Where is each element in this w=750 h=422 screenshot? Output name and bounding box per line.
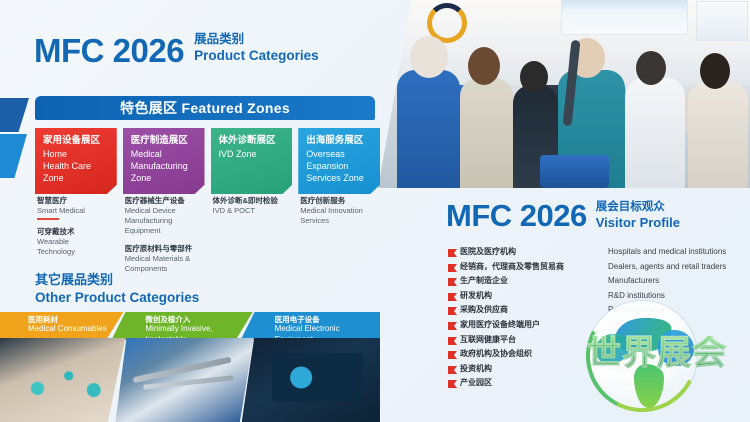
- zone-subcategory-column: 智慧医疗 Smart Medical 可穿戴技术 Wearable Techno…: [37, 196, 119, 281]
- poster-canvas: MFC 2026 展品类别 Product Categories 特色展区 Fe…: [0, 0, 750, 422]
- photo-medical-electronic-equipment: [242, 338, 380, 422]
- red-arrow-bullet-icon: [448, 290, 460, 301]
- visitor-list-item: 经销商，代理商及零售贸易商 Dealers, agents and retail…: [448, 261, 748, 276]
- visitor-item-cn: 产业园区: [460, 377, 608, 389]
- visitor-list-item: 医院及医疗机构 Hospitals and medical institutio…: [448, 246, 748, 261]
- visitor-mfc-logotype: MFC 2026: [446, 200, 587, 231]
- visitor-list-item: 投资机构 Investment: [448, 363, 748, 378]
- visitor-head: [700, 53, 730, 89]
- subcategory-cn: 医疗器械生产设备: [125, 196, 207, 206]
- zone-card-title-cn: 家用设备展区: [43, 135, 110, 147]
- subcategory-en: IVD & POCT: [213, 206, 295, 216]
- visitor-profile-header: MFC 2026 展会目标观众 Visitor Profile: [446, 200, 680, 231]
- subcategory-en: Smart Medical: [37, 206, 119, 216]
- red-arrow-bullet-icon: [448, 319, 460, 330]
- zone-subcategory-column: 医疗器械生产设备 Medical Device Manufacturing Eq…: [125, 196, 207, 281]
- visitor-profile-list: 医院及医疗机构 Hospitals and medical institutio…: [448, 246, 748, 392]
- category-bar-minimally-invasive[interactable]: 微创及植介入 Minimally Invasive, Implantable &…: [111, 312, 252, 340]
- photo-minimally-invasive-devices: [115, 338, 253, 422]
- visitor-figure: [460, 78, 512, 188]
- visitor-item-en: Manufacturers: [608, 275, 748, 287]
- header-title-en: Product Categories: [194, 48, 319, 65]
- zone-card-title-cn: 体外诊断展区: [219, 135, 286, 147]
- zone-subcategory-columns: 智慧医疗 Smart Medical 可穿戴技术 Wearable Techno…: [37, 196, 382, 281]
- red-arrow-bullet-icon: [448, 304, 460, 315]
- bottom-photo-strip: [0, 338, 380, 422]
- visitor-title-en: Visitor Profile: [596, 215, 680, 231]
- visitor-item-en: Investment: [608, 363, 748, 375]
- visitor-title-cn: 展会目标观众: [596, 200, 680, 214]
- tradeshow-booth-photo: [378, 0, 750, 188]
- visitor-list-item: 采购及供应商 Purchasers and: [448, 304, 748, 319]
- header-subtitle-group: 展品类别 Product Categories: [194, 32, 319, 67]
- subcategory-cn: 医疗创新服务: [300, 196, 382, 206]
- visitor-item-en: Government: [608, 348, 748, 360]
- other-categories-title-cn: 其它展品类别: [35, 272, 199, 289]
- visitor-item-en: Purchasers and: [608, 304, 748, 316]
- subcategory-cn: 医疗原材料与零部件: [125, 244, 207, 254]
- visitor-list-item: 政府机构及协会组织 Government: [448, 348, 748, 363]
- visitor-subtitle-group: 展会目标观众 Visitor Profile: [596, 200, 680, 231]
- visitor-list-item: 家用医疗设备终端用户 End users for: [448, 319, 748, 334]
- subcategory-cn: 可穿戴技术: [37, 227, 119, 237]
- product-categories-header: MFC 2026 展品类别 Product Categories: [34, 32, 319, 67]
- visitor-head: [468, 47, 500, 85]
- category-bar-cn: 医用电子设备: [275, 315, 380, 324]
- visitor-item-en: Dealers, agents and retail traders: [608, 261, 748, 273]
- subcategory-en: Medical Innovation Services: [300, 206, 382, 226]
- red-arrow-bullet-icon: [448, 348, 460, 359]
- zone-card-home-health-care[interactable]: 家用设备展区 Home Health Care Zone: [35, 128, 117, 194]
- zone-card-title-en: IVD Zone: [219, 149, 286, 161]
- subcategory-item: 医疗器械生产设备 Medical Device Manufacturing Eq…: [125, 196, 207, 237]
- visitor-item-en: Industrial pa: [608, 377, 748, 389]
- red-arrow-bullet-icon: [448, 246, 460, 257]
- red-arrow-bullet-icon: [448, 377, 460, 388]
- subcategory-item: 体外诊断&即时检验 IVD & POCT: [213, 196, 295, 216]
- category-bar-cn: 医用耗材: [28, 315, 123, 324]
- zone-subcategory-column: 医疗创新服务 Medical Innovation Services: [300, 196, 382, 281]
- robot-arm-exhibit: [531, 40, 617, 188]
- visitor-item-cn: 家用医疗设备终端用户: [460, 319, 608, 331]
- red-arrow-bullet-icon: [448, 261, 460, 272]
- visitor-item-cn: 经销商，代理商及零售贸易商: [460, 261, 608, 273]
- red-arrow-bullet-icon: [448, 334, 460, 345]
- featured-zones-banner: 特色展区 Featured Zones: [35, 96, 375, 120]
- photo-medical-consumables: [0, 338, 125, 422]
- header-title-cn: 展品类别: [194, 32, 319, 48]
- visitor-item-cn: 研发机构: [460, 290, 608, 302]
- visitor-figure: [625, 78, 685, 188]
- zone-card-title-en: Medical Manufacturing Zone: [131, 149, 198, 185]
- subcategory-en: Medical Device Manufacturing Equipment: [125, 206, 207, 236]
- visitor-item-cn: 采购及供应商: [460, 304, 608, 316]
- other-categories-bar-list: 医用耗材 Medical Consumables 微创及植介入 Minimall…: [0, 312, 380, 340]
- zone-card-ivd[interactable]: 体外诊断展区 IVD Zone: [211, 128, 293, 194]
- visitor-item-cn: 医院及医疗机构: [460, 246, 608, 258]
- category-bar-cn: 微创及植介入: [145, 315, 252, 324]
- visitor-item-cn: 互联网健康平台: [460, 334, 608, 346]
- visitor-item-en: R&D institutions: [608, 290, 748, 302]
- zone-card-title-en: Overseas Expansion Services Zone: [306, 149, 373, 185]
- booth-poster-secondary: [696, 1, 748, 41]
- visitor-item-en: Online health: [608, 334, 748, 346]
- zone-card-title-cn: 医疗制造展区: [131, 135, 198, 147]
- other-categories-title-en: Other Product Categories: [35, 289, 199, 307]
- zone-card-medical-manufacturing[interactable]: 医疗制造展区 Medical Manufacturing Zone: [123, 128, 205, 194]
- visitor-list-item: 研发机构 R&D institutions: [448, 290, 748, 305]
- visitor-figure: [688, 82, 748, 188]
- category-bar-medical-electronic-equipment[interactable]: 医用电子设备 Medical Electronic Equipment: [241, 312, 380, 340]
- visitor-list-item: 生产制造企业 Manufacturers: [448, 275, 748, 290]
- zone-card-title-en: Home Health Care Zone: [43, 149, 110, 185]
- blue-accent-shape-light: [0, 134, 27, 178]
- visitor-head: [410, 36, 448, 78]
- subcategory-item: 可穿戴技术 Wearable Technology: [37, 227, 119, 257]
- visitor-item-cn: 投资机构: [460, 363, 608, 375]
- zone-subcategory-column: 体外诊断&即时检验 IVD & POCT: [213, 196, 295, 281]
- header-mfc-logotype: MFC 2026: [34, 34, 184, 67]
- subcategory-cn: 体外诊断&即时检验: [213, 196, 295, 206]
- subcategory-item: 智慧医疗 Smart Medical: [37, 196, 119, 220]
- zone-card-title-cn: 出海服务展区: [306, 135, 373, 147]
- category-bar-en: Medical Consumables: [28, 324, 123, 334]
- visitor-list-item: 互联网健康平台 Online health: [448, 334, 748, 349]
- subcategory-item: 医疗原材料与零部件 Medical Materials & Components: [125, 244, 207, 274]
- visitor-figure: [397, 70, 461, 188]
- blue-accent-shape-dark: [0, 98, 29, 132]
- category-bar-medical-consumables[interactable]: 医用耗材 Medical Consumables: [0, 312, 123, 340]
- subcategory-item: 医疗创新服务 Medical Innovation Services: [300, 196, 382, 226]
- featured-zone-card-list: 家用设备展区 Home Health Care Zone 医疗制造展区 Medi…: [35, 128, 380, 194]
- booth-poster: [561, 0, 688, 35]
- visitor-item-en: Hospitals and medical institutions: [608, 246, 748, 258]
- visitor-item-en: End users for: [608, 319, 748, 331]
- visitor-list-item: 产业园区 Industrial pa: [448, 377, 748, 392]
- subcategory-underline: [37, 218, 59, 220]
- visitor-item-cn: 政府机构及协会组织: [460, 348, 608, 360]
- zone-card-overseas-expansion[interactable]: 出海服务展区 Overseas Expansion Services Zone: [298, 128, 380, 194]
- red-arrow-bullet-icon: [448, 275, 460, 286]
- subcategory-en: Medical Materials & Components: [125, 254, 207, 274]
- subcategory-cn: 智慧医疗: [37, 196, 119, 206]
- red-arrow-bullet-icon: [448, 363, 460, 374]
- visitor-item-cn: 生产制造企业: [460, 275, 608, 287]
- other-categories-header: 其它展品类别 Other Product Categories: [35, 272, 199, 306]
- subcategory-en: Wearable Technology: [37, 237, 119, 257]
